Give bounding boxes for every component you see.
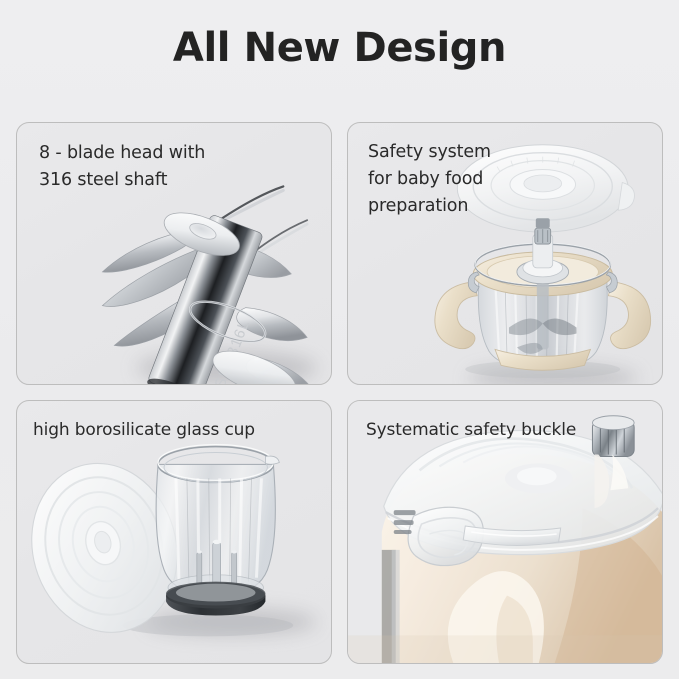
feature-card-glass-cup[interactable]: high borosilicate glass cup bbox=[16, 400, 332, 664]
safety-buckle-image bbox=[348, 401, 662, 663]
feature-card-grid: 8 - blade head with 316 steel shaft bbox=[16, 122, 663, 664]
glass-cup-image bbox=[17, 401, 331, 663]
safety-system-image bbox=[348, 123, 662, 384]
blade-head-image: SUS316L bbox=[17, 123, 331, 384]
feature-card-safety-system[interactable]: Safety system for baby food preparation bbox=[347, 122, 663, 385]
product-feature-grid: All New Design 8 - blade head with 316 s… bbox=[0, 0, 679, 679]
feature-card-blade-head[interactable]: 8 - blade head with 316 steel shaft bbox=[16, 122, 332, 385]
page-title: All New Design bbox=[0, 22, 679, 74]
feature-card-safety-buckle[interactable]: Systematic safety buckle bbox=[347, 400, 663, 664]
